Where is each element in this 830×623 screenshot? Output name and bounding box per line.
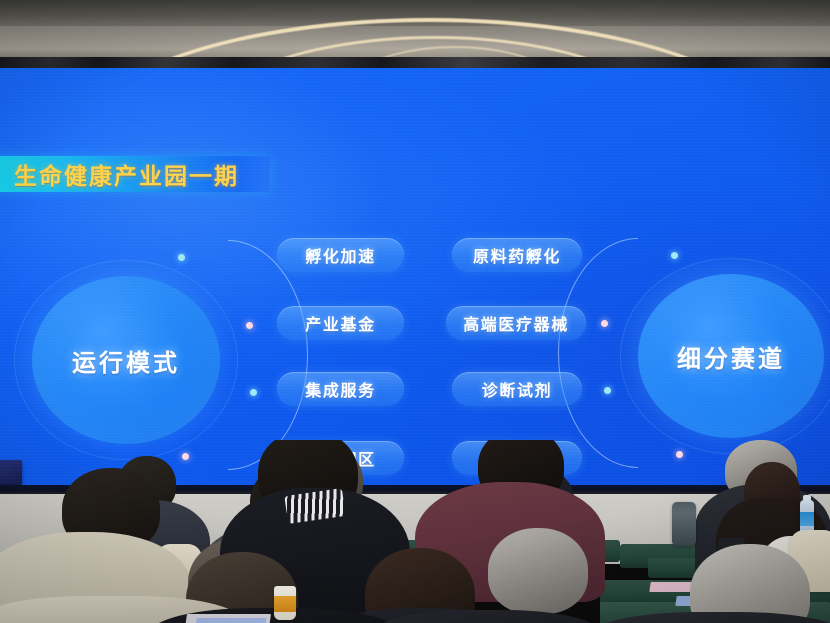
pill-label: 原料药孵化 <box>473 243 561 267</box>
pill-high-end-medical-devices[interactable]: 高端医疗器械 <box>446 306 586 340</box>
pill-diagnostic-reagents[interactable]: 诊断试剂 <box>452 372 582 406</box>
right-circle-label: 细分赛道 <box>677 339 785 374</box>
bottle-label <box>800 512 814 526</box>
left-circle: 运行模式 <box>32 276 220 444</box>
left-circle-label: 运行模式 <box>72 343 180 378</box>
thermos-flask <box>672 502 696 546</box>
pill-label: 诊断试剂 <box>482 377 552 401</box>
pill-label: 高端医疗器械 <box>463 311 569 335</box>
attendee-head <box>488 528 588 614</box>
pill-label: 集成服务 <box>305 377 375 401</box>
slide-title: 生命健康产业园一期 <box>14 157 239 191</box>
pill-incubation-acceleration[interactable]: 孵化加速 <box>277 238 404 272</box>
presentation-screen: 生命健康产业园一期 运行模式 细分赛道 孵化加速 产业基金 <box>0 68 830 488</box>
pill-industry-fund[interactable]: 产业基金 <box>277 306 404 340</box>
document-blue-line <box>195 618 266 623</box>
slide-title-banner: 生命健康产业园一期 <box>0 156 270 192</box>
right-arc-dot-3 <box>604 387 611 394</box>
paper-cup-2 <box>274 586 296 620</box>
audience-area <box>0 440 830 623</box>
bottle-cap <box>803 495 811 501</box>
left-arc-dot-2 <box>246 322 253 329</box>
screenshot-root: 生命健康产业园一期 运行模式 细分赛道 孵化加速 产业基金 <box>0 0 830 623</box>
right-arc-dot-1 <box>671 252 678 259</box>
pill-label: 产业基金 <box>305 311 375 335</box>
right-circle: 细分赛道 <box>638 274 824 438</box>
left-arc-dot-3 <box>250 389 257 396</box>
left-arc-dot-1 <box>178 254 185 261</box>
pill-label: 孵化加速 <box>305 243 375 267</box>
pill-integrated-services[interactable]: 集成服务 <box>277 372 404 406</box>
ceiling <box>0 0 830 70</box>
right-arc-dot-2 <box>601 320 608 327</box>
pill-api-incubation[interactable]: 原料药孵化 <box>452 238 582 272</box>
